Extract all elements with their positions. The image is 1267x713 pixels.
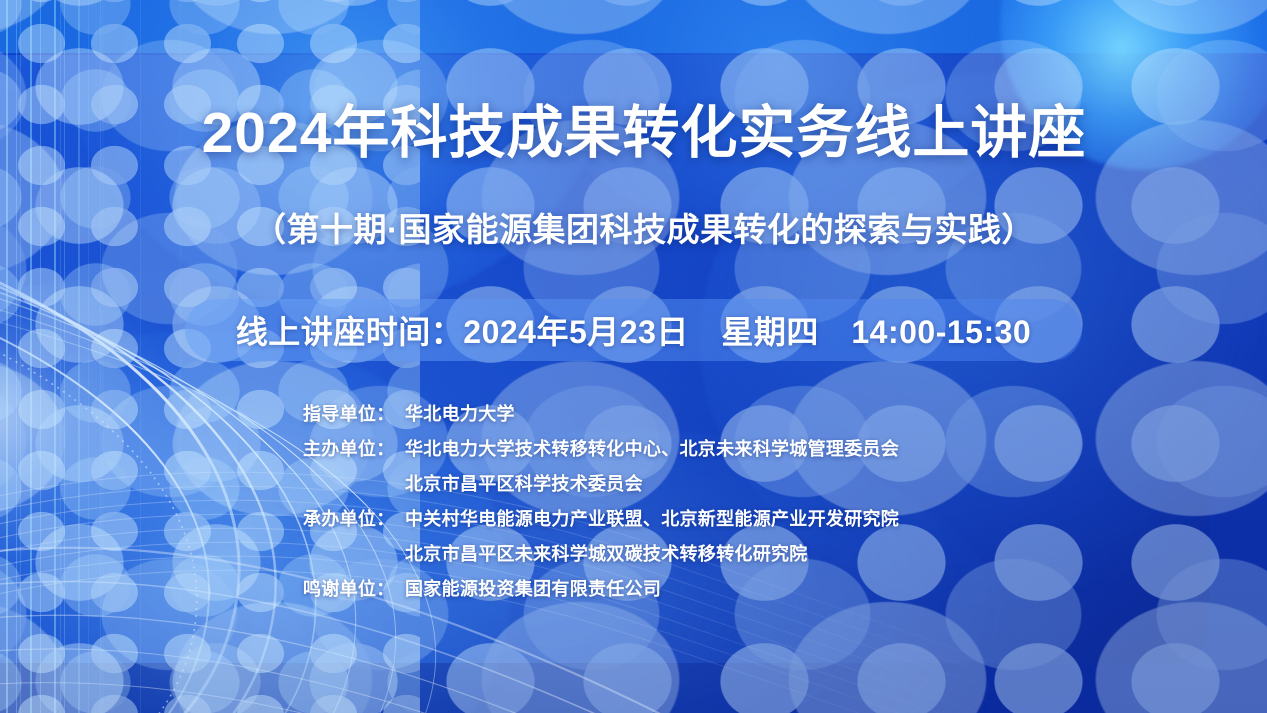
list-item: 指导单位： 华北电力大学 [303, 400, 1063, 435]
organization-value: 北京市昌平区未来科学城双碳技术转移转化研究院 [405, 540, 808, 566]
list-item: 北京市昌平区科学技术委员会 [303, 470, 1063, 505]
organization-label: 鸣谢单位： [303, 575, 405, 601]
list-item: 鸣谢单位： 国家能源投资集团有限责任公司 [303, 575, 1063, 610]
organization-label: 指导单位： [303, 400, 405, 426]
list-item: 北京市昌平区未来科学城双碳技术转移转化研究院 [303, 540, 1063, 575]
poster-canvas: 2024年科技成果转化实务线上讲座 （第十期·国家能源集团科技成果转化的探索与实… [0, 0, 1267, 713]
page-title: 2024年科技成果转化实务线上讲座 [164, 102, 1124, 165]
organization-value: 华北电力大学 [405, 400, 515, 426]
organization-label: 主办单位： [303, 435, 405, 461]
list-item: 承办单位： 中关村华电能源电力产业联盟、北京新型能源产业开发研究院 [303, 505, 1063, 540]
organization-value: 国家能源投资集团有限责任公司 [405, 575, 661, 601]
organization-value: 北京市昌平区科学技术委员会 [405, 470, 643, 496]
organization-value: 华北电力大学技术转移转化中心、北京未来科学城管理委员会 [405, 435, 899, 461]
poster-content: 2024年科技成果转化实务线上讲座 （第十期·国家能源集团科技成果转化的探索与实… [0, 0, 1267, 713]
schedule-banner-text: 线上讲座时间：2024年5月23日 星期四 14:00-15:30 [236, 307, 1031, 353]
organizations-list: 指导单位： 华北电力大学 主办单位： 华北电力大学技术转移转化中心、北京未来科学… [303, 400, 1063, 610]
organization-value: 中关村华电能源电力产业联盟、北京新型能源产业开发研究院 [405, 505, 899, 531]
organization-label: 承办单位： [303, 505, 405, 531]
page-subtitle: （第十期·国家能源集团科技成果转化的探索与实践） [164, 210, 1124, 250]
schedule-banner: 线上讲座时间：2024年5月23日 星期四 14:00-15:30 [185, 299, 1082, 361]
list-item: 主办单位： 华北电力大学技术转移转化中心、北京未来科学城管理委员会 [303, 435, 1063, 470]
